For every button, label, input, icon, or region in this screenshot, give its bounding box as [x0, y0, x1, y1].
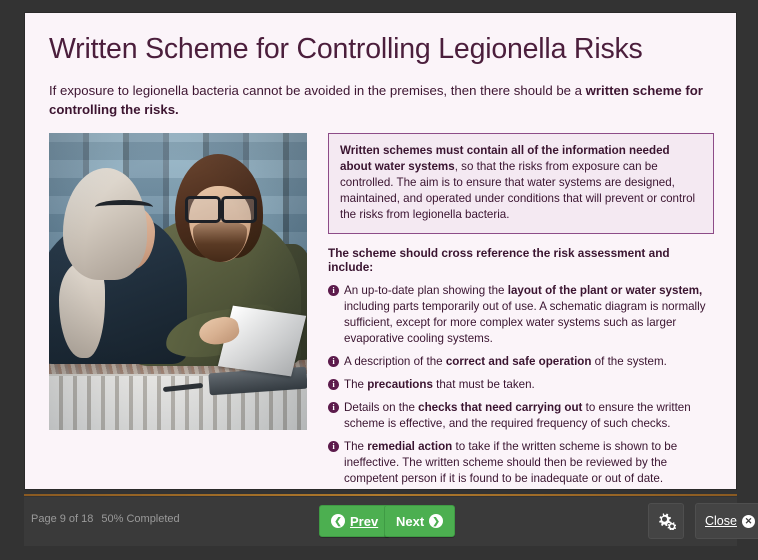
arrow-left-circle-icon: ❮ — [331, 514, 345, 528]
settings-button[interactable] — [648, 503, 684, 539]
list-item-post: that must be taken. — [433, 378, 535, 391]
next-button-label: Next — [396, 514, 424, 529]
info-icon: i — [328, 379, 339, 390]
slide-content: Written Scheme for Controlling Legionell… — [25, 13, 737, 490]
list-item-post: including parts temporarily out of use. … — [344, 300, 706, 345]
info-icon: i — [328, 285, 339, 296]
list-item-post: of the system. — [591, 355, 666, 368]
close-circle-icon: ✕ — [742, 515, 755, 528]
completion-percent: 50% Completed — [101, 513, 179, 525]
list-item-bold: precautions — [367, 378, 433, 391]
intro-paragraph: If exposure to legionella bacteria canno… — [49, 82, 704, 119]
text-column: Written schemes must contain all of the … — [328, 133, 714, 490]
page-title: Written Scheme for Controlling Legionell… — [49, 33, 714, 66]
requirements-list: iAn up-to-date plan showing the layout o… — [328, 283, 714, 487]
list-item-pre: The — [344, 378, 367, 391]
list-item-pre: The — [344, 440, 367, 453]
progress-status: Page 9 of 1850% Completed — [31, 513, 180, 525]
photo-vignette — [49, 133, 307, 430]
slide-panel: Written Scheme for Controlling Legionell… — [24, 12, 737, 490]
next-button[interactable]: Next ❯ — [384, 505, 455, 537]
info-icon: i — [328, 402, 339, 413]
close-button[interactable]: Close ✕ — [695, 503, 758, 539]
list-item: iThe precautions that must be taken. — [328, 377, 714, 393]
prev-button[interactable]: ❮ Prev — [319, 505, 390, 537]
info-icon: i — [328, 441, 339, 452]
page-counter: Page 9 of 18 — [31, 513, 93, 525]
list-item-pre: A description of the — [344, 355, 446, 368]
list-item-bold: checks that need carrying out — [418, 401, 582, 414]
list-item-bold: layout of the plant or water system, — [508, 284, 703, 297]
player-footer: Page 9 of 1850% Completed ❮ Prev Next ❯ … — [24, 497, 737, 546]
list-item: iA description of the correct and safe o… — [328, 354, 714, 370]
list-item-pre: Details on the — [344, 401, 418, 414]
body-columns: Written schemes must contain all of the … — [49, 133, 714, 490]
callout-box: Written schemes must contain all of the … — [328, 133, 714, 234]
list-item: iThe remedial action to take if the writ… — [328, 439, 714, 487]
accent-divider — [24, 494, 737, 496]
list-item: iDetails on the checks that need carryin… — [328, 400, 714, 432]
list-item-pre: An up-to-date plan showing the — [344, 284, 508, 297]
arrow-right-circle-icon: ❯ — [429, 514, 443, 528]
course-player-frame: Written Scheme for Controlling Legionell… — [0, 0, 758, 560]
section-subheading: The scheme should cross reference the ri… — [328, 246, 714, 274]
list-item-bold: correct and safe operation — [446, 355, 592, 368]
prev-button-label: Prev — [350, 514, 378, 529]
list-item: iAn up-to-date plan showing the layout o… — [328, 283, 714, 347]
lesson-photo — [49, 133, 307, 430]
intro-plain-text: If exposure to legionella bacteria canno… — [49, 83, 586, 98]
cogs-icon — [656, 512, 676, 530]
close-button-label: Close — [705, 514, 737, 528]
list-item-bold: remedial action — [367, 440, 452, 453]
info-icon: i — [328, 356, 339, 367]
